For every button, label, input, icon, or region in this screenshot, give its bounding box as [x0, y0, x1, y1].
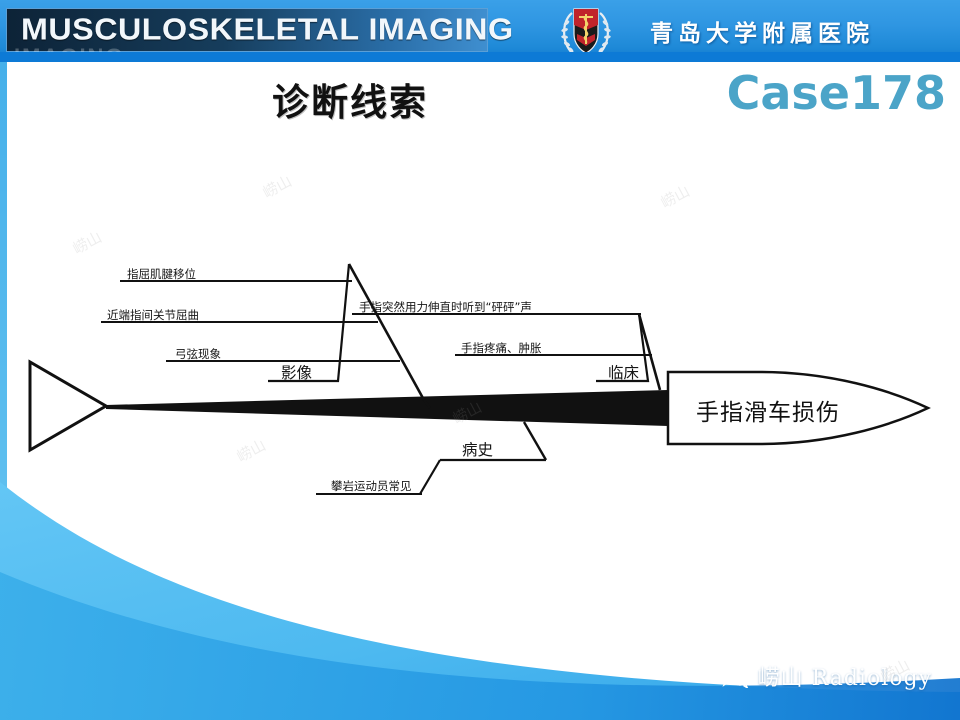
wechat-icon	[720, 664, 750, 688]
fishbone-spine	[106, 390, 668, 426]
sub-label-clinical-1: 手指疼痛、肿胀	[461, 340, 542, 356]
category-label-imaging: 影像	[281, 361, 312, 383]
sub-label-imaging-2: 弓弦现象	[175, 346, 221, 362]
sub-label-imaging-0: 指屈肌腱移位	[127, 266, 196, 282]
header-banner: MUSCULOSKELETAL IMAGING IMAGING	[0, 0, 960, 62]
banner-ghost-text: IMAGING	[14, 44, 125, 62]
footer-brand: 崂山 Radiology	[720, 660, 932, 692]
branch-rib-history	[524, 422, 546, 460]
page-title: 诊断线索	[0, 72, 700, 126]
diagnosis-conclusion-label: 手指滑车损伤	[696, 393, 840, 427]
sub-label-imaging-1: 近端指间关节屈曲	[107, 307, 199, 323]
hospital-name-text: 青岛大学附属医院	[650, 14, 874, 48]
footer-brand-text: 崂山 Radiology	[758, 660, 932, 692]
fish-tail-icon	[30, 362, 106, 450]
branch-rib-clinical	[639, 314, 660, 390]
slide-canvas: MUSCULOSKELETAL IMAGING IMAGING	[0, 0, 960, 720]
category-label-history: 病史	[462, 438, 493, 460]
case-number-label: Case178	[727, 66, 946, 120]
bottom-wave-decoration: 崂山 Radiology	[0, 460, 960, 720]
hospital-emblem-icon	[556, 3, 616, 61]
category-label-clinical: 临床	[608, 361, 639, 383]
banner-title-text: MUSCULOSKELETAL IMAGING	[21, 11, 514, 47]
sub-label-clinical-0: 手指突然用力伸直时听到“砰砰”声	[359, 299, 532, 315]
branch-rib-imaging	[349, 264, 424, 400]
